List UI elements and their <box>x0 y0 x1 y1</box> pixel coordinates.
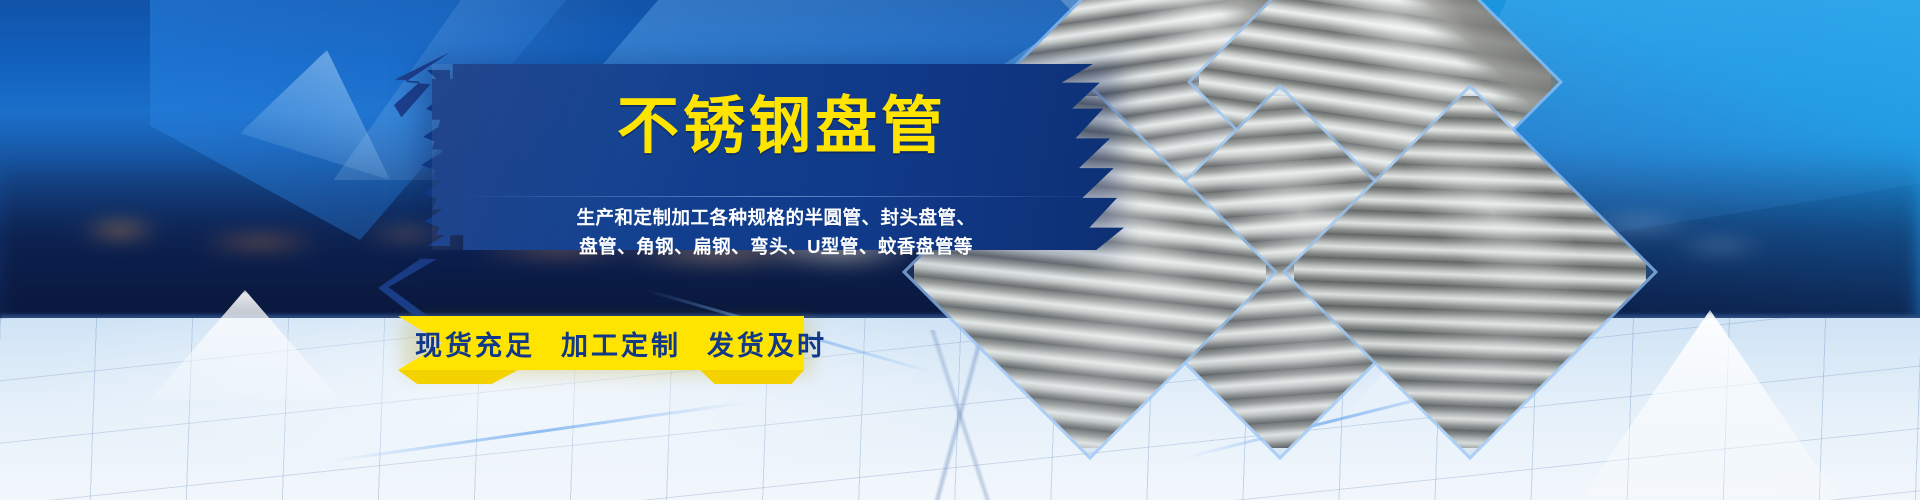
banner-title: 不锈钢盘管 <box>452 96 1112 158</box>
product-banner: 不锈钢盘管 生产和定制加工各种规格的半圆管、封头盘管、 盘管、角钢、扁钢、弯头、… <box>0 0 1920 500</box>
banner-subtitle: 生产和定制加工各种规格的半圆管、封头盘管、 盘管、角钢、扁钢、弯头、U型管、蚊香… <box>440 204 1112 261</box>
feature-item-2: 加工定制 <box>561 324 681 363</box>
feature-ribbon-text: 现货充足 加工定制 发货及时 <box>438 316 804 370</box>
feature-item-1: 现货充足 <box>415 324 535 363</box>
plaza-haze <box>0 318 1920 500</box>
subtitle-line-2: 盘管、角钢、扁钢、弯头、U型管、蚊香盘管等 <box>440 233 1112 262</box>
feature-ribbon-tail-right <box>700 370 804 384</box>
subtitle-line-1: 生产和定制加工各种规格的半圆管、封头盘管、 <box>440 204 1112 233</box>
feature-item-3: 发货及时 <box>707 324 827 363</box>
headline-panel-divider <box>452 196 1102 197</box>
